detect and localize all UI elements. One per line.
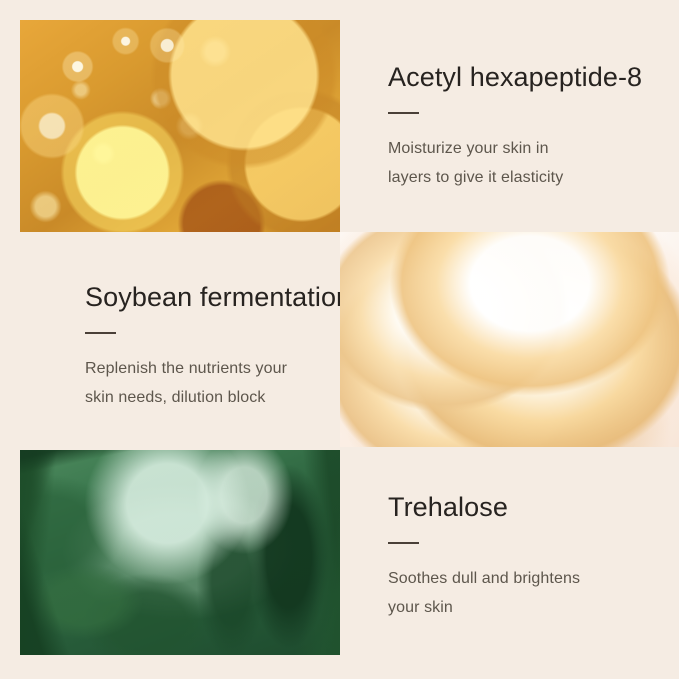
description-line: skin needs, dilution block (85, 384, 350, 412)
ingredient-heading: Soybean fermentation (85, 282, 350, 313)
ingredient-block-trehalose: Trehalose Soothes dull and brightens you… (388, 492, 658, 622)
ingredient-description: Replenish the nutrients your skin needs,… (85, 355, 350, 412)
description-line: Moisturize your skin in (388, 135, 658, 163)
description-line: Soothes dull and brightens (388, 565, 658, 593)
ingredient-heading: Trehalose (388, 492, 658, 523)
description-line: Replenish the nutrients your (85, 355, 350, 383)
golden-oil-bubbles-image (20, 20, 340, 232)
ingredient-description: Soothes dull and brightens your skin (388, 565, 658, 622)
heading-divider (388, 542, 419, 544)
ingredient-description: Moisturize your skin in layers to give i… (388, 135, 658, 192)
ingredient-heading: Acetyl hexapeptide-8 (388, 62, 658, 93)
peach-spheres-image (340, 232, 679, 447)
ingredient-infographic: Acetyl hexapeptide-8 Moisturize your ski… (0, 0, 679, 679)
heading-divider (85, 332, 116, 334)
green-seaweed-kelp-image (20, 450, 340, 655)
ingredient-block-soybean-fermentation: Soybean fermentation Replenish the nutri… (85, 282, 350, 412)
description-line: your skin (388, 594, 658, 622)
heading-divider (388, 112, 419, 114)
description-line: layers to give it elasticity (388, 164, 658, 192)
ingredient-block-acetyl-hexapeptide-8: Acetyl hexapeptide-8 Moisturize your ski… (388, 62, 658, 192)
